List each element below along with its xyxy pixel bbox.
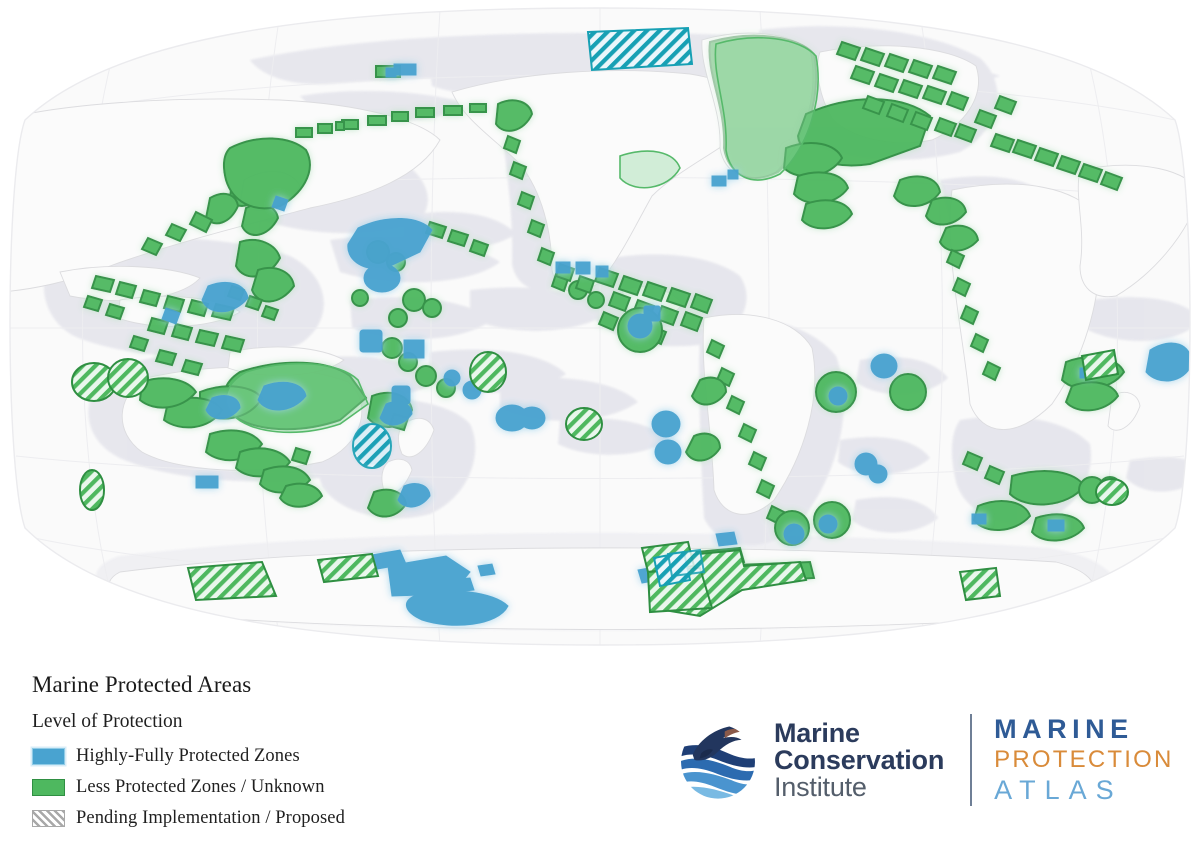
legend-item-label: Pending Implementation / Proposed [76, 808, 345, 829]
mci-line-1: Marine [774, 720, 944, 747]
logo-divider [970, 714, 972, 806]
legend-title: Marine Protected Areas [32, 672, 552, 698]
blue-fill-swatch [32, 748, 65, 765]
marine-protection-atlas-logo[interactable]: MARINE PROTECTION ATLAS [994, 716, 1173, 804]
logo-row: Marine Conservation Institute MARINE PRO… [676, 700, 1173, 820]
legend-item-highly-fully-protected[interactable]: Highly-Fully Protected Zones [32, 742, 552, 770]
mci-line-2: Conservation [774, 747, 944, 774]
legend-item-pending-proposed[interactable]: Pending Implementation / Proposed [32, 804, 552, 832]
gray-hatch-swatch [32, 810, 65, 827]
marine-conservation-institute-logo[interactable]: Marine Conservation Institute [676, 718, 944, 802]
map-globe-contents [0, 0, 1200, 655]
legend-item-label: Less Protected Zones / Unknown [76, 777, 325, 798]
green-fill-swatch [32, 779, 65, 796]
world-map-panel[interactable] [0, 0, 1200, 655]
mci-wordmark: Marine Conservation Institute [774, 720, 944, 801]
mci-line-3: Institute [774, 774, 944, 801]
legend-item-label: Highly-Fully Protected Zones [76, 746, 300, 767]
mpa-line-2: PROTECTION [994, 748, 1173, 772]
legend-subtitle: Level of Protection [32, 711, 552, 733]
legend-item-less-protected[interactable]: Less Protected Zones / Unknown [32, 773, 552, 801]
mpa-line-1: MARINE [994, 716, 1173, 743]
mpa-line-3: ATLAS [994, 777, 1173, 804]
dolphin-waves-circle-icon [676, 718, 760, 802]
world-map-svg[interactable] [0, 0, 1200, 655]
map-legend: Marine Protected Areas Level of Protecti… [32, 672, 552, 835]
